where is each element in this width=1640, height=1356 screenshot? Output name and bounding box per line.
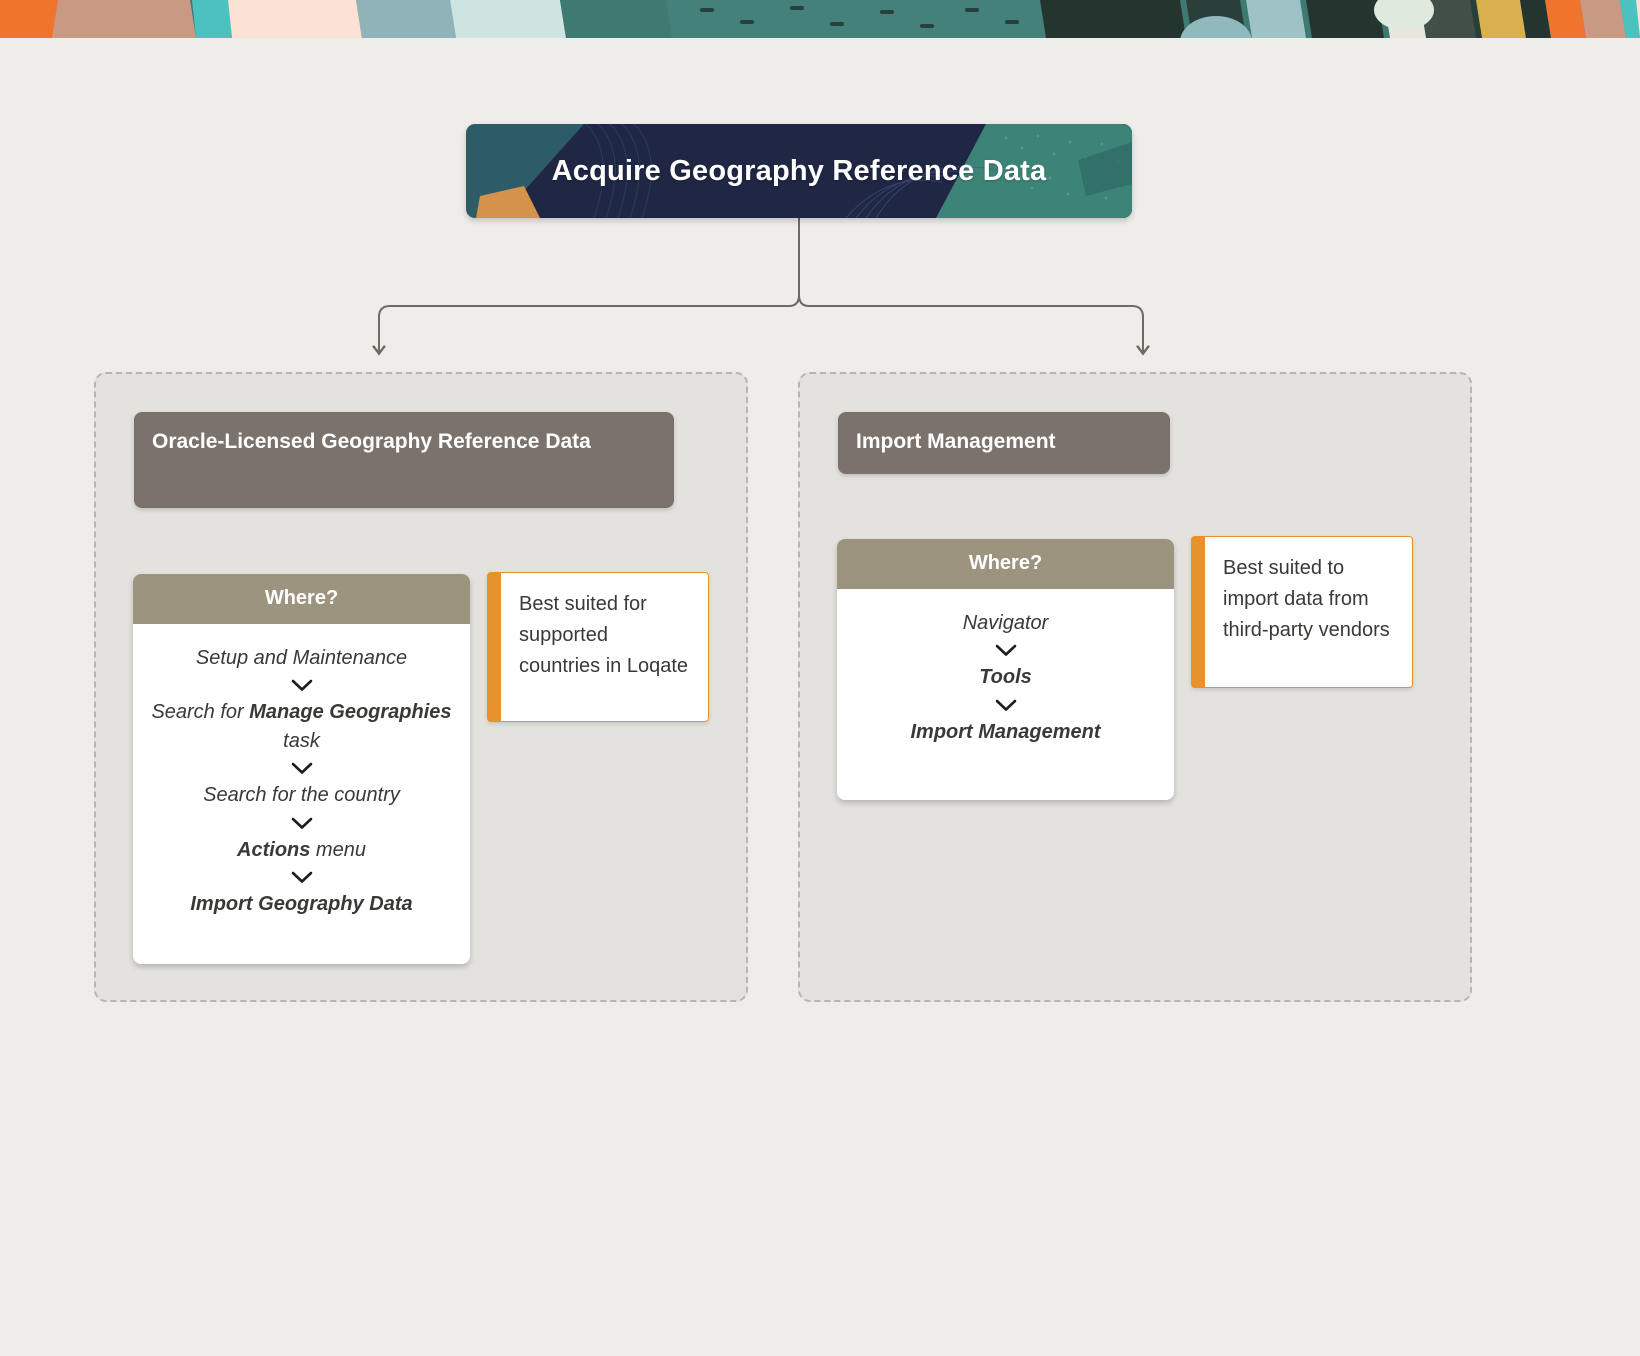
- page-title: Acquire Geography Reference Data: [466, 124, 1132, 218]
- step-suffix: task: [283, 730, 320, 752]
- step-search-manage-geographies: Search for Manage Geographies task: [149, 698, 454, 755]
- diagram-title-banner: Acquire Geography Reference Data: [466, 124, 1132, 218]
- where-card-steps: Setup and Maintenance Search for Manage …: [133, 624, 470, 936]
- step-import-management: Import Management: [853, 718, 1158, 746]
- chevron-down-icon: [149, 755, 454, 781]
- where-card-oracle-licensed: Where? Setup and Maintenance Search for …: [133, 574, 470, 964]
- step-emphasis: Actions: [237, 839, 310, 861]
- where-card-steps: Navigator Tools Import Management: [837, 589, 1174, 764]
- chevron-down-icon: [853, 692, 1158, 718]
- step-prefix: Search for: [151, 701, 249, 723]
- callout-oracle-licensed: Best suited for supported countries in L…: [487, 572, 709, 722]
- callout-import-management: Best suited to import data from third-pa…: [1191, 536, 1413, 688]
- group-title-oracle-licensed: Oracle-Licensed Geography Reference Data: [134, 412, 674, 508]
- step-suffix: menu: [310, 839, 366, 861]
- step-tools: Tools: [853, 663, 1158, 691]
- step-emphasis: Manage Geographies: [249, 701, 451, 723]
- step-actions-menu: Actions menu: [149, 836, 454, 864]
- chevron-down-icon: [149, 672, 454, 698]
- where-card-import-management: Where? Navigator Tools Import Management: [837, 539, 1174, 800]
- chevron-down-icon: [149, 864, 454, 890]
- where-card-header: Where?: [133, 574, 470, 624]
- chevron-down-icon: [149, 810, 454, 836]
- step-setup-and-maintenance: Setup and Maintenance: [149, 644, 454, 672]
- group-title-import-management: Import Management: [838, 412, 1170, 474]
- step-search-country: Search for the country: [149, 781, 454, 809]
- step-navigator: Navigator: [853, 609, 1158, 637]
- chevron-down-icon: [853, 637, 1158, 663]
- step-import-geography-data: Import Geography Data: [149, 890, 454, 918]
- decorative-top-banner: [0, 0, 1640, 38]
- where-card-header: Where?: [837, 539, 1174, 589]
